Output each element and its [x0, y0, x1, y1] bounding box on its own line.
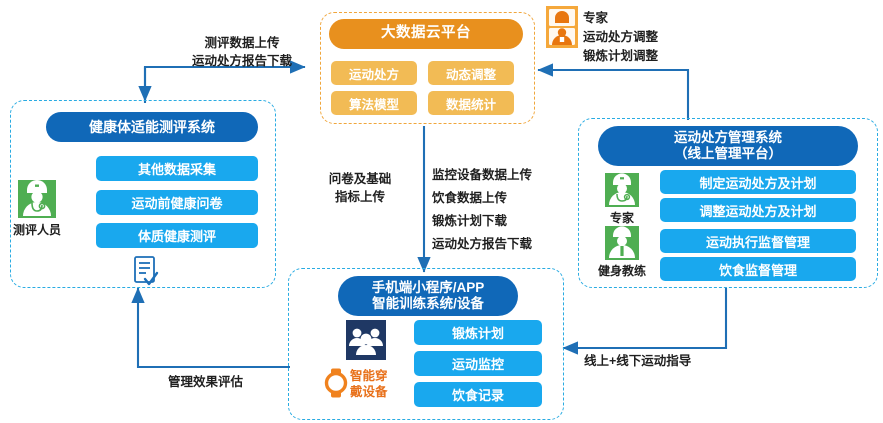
diagram-canvas: 大数据云平台 运动处方 动态调整 算法模型 数据统计 专家 运动处方调整 锻炼计… — [0, 0, 883, 423]
flow-label-questionnaire: 问卷及基础 指标上传 — [318, 170, 402, 206]
flow-label-cloud-mobile: 监控设备数据上传 饮食数据上传 锻炼计划下载 运动处方报告下载 — [432, 164, 582, 257]
mobile-function-2[interactable]: 饮食记录 — [414, 382, 542, 407]
prescription-function-3[interactable]: 饮食监督管理 — [660, 257, 856, 281]
arrow-prescription-mobile — [563, 288, 726, 348]
expert-doctor-icon — [605, 173, 639, 207]
arrow-mobile-assessment — [138, 288, 290, 367]
cloud-platform-header: 大数据云平台 — [329, 19, 523, 49]
flow-label-assessment-cloud: 测评数据上传 运动处方报告下载 — [152, 34, 332, 70]
arrow-prescription-cloud — [538, 70, 688, 120]
prescription-role-label-0: 专家 — [596, 209, 648, 226]
assessment-function-2[interactable]: 体质健康测评 — [96, 223, 258, 248]
cloud-module-1[interactable]: 动态调整 — [428, 61, 514, 85]
prescription-system-header: 运动处方管理系统 （线上管理平台） — [598, 126, 858, 166]
smart-watch-icon — [324, 368, 348, 398]
assessor-doctor-icon — [18, 180, 56, 218]
flow-label-mobile-assessment: 管理效果评估 — [168, 373, 308, 391]
assessment-system-header: 健康体适能测评系统 — [46, 112, 258, 142]
smart-device-label: 智能穿 戴设备 — [350, 369, 410, 400]
mobile-system-header: 手机端小程序/APP 智能训练系统/设备 — [338, 276, 518, 316]
flow-label-prescription-mobile: 线上+线下运动指导 — [584, 352, 764, 370]
assessment-function-1[interactable]: 运动前健康问卷 — [96, 190, 258, 215]
mobile-function-0[interactable]: 锻炼计划 — [414, 320, 542, 345]
user-group-icon — [346, 320, 386, 360]
expert-note-text: 专家 运动处方调整 锻炼计划调整 — [583, 9, 753, 65]
prescription-function-0[interactable]: 制定运动处方及计划 — [660, 170, 856, 194]
cloud-module-2[interactable]: 算法模型 — [331, 91, 417, 115]
prescription-function-1[interactable]: 调整运动处方及计划 — [660, 198, 856, 222]
expert-badge-icon — [546, 6, 578, 48]
cloud-module-0[interactable]: 运动处方 — [331, 61, 417, 85]
prescription-role-label-1: 健身教练 — [588, 262, 656, 279]
report-checklist-icon — [132, 255, 160, 287]
assessment-function-0[interactable]: 其他数据采集 — [96, 156, 258, 181]
mobile-function-1[interactable]: 运动监控 — [414, 351, 542, 376]
assessor-role-label: 测评人员 — [5, 221, 69, 238]
prescription-header-line1: 运动处方管理系统 — [674, 130, 782, 146]
mobile-header-line2: 智能训练系统/设备 — [372, 296, 484, 312]
cloud-module-3[interactable]: 数据统计 — [428, 91, 514, 115]
prescription-function-2[interactable]: 运动执行监督管理 — [660, 229, 856, 253]
mobile-header-line1: 手机端小程序/APP — [372, 280, 485, 296]
prescription-header-line2: （线上管理平台） — [674, 146, 782, 162]
arrow-assessment-cloud — [145, 67, 305, 103]
fitness-coach-icon — [605, 226, 639, 260]
